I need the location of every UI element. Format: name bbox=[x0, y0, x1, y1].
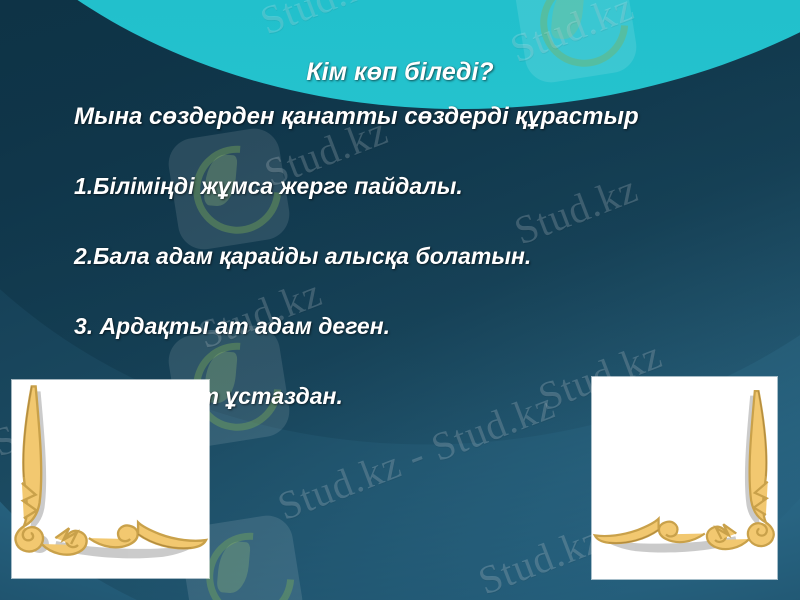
ornamental-image-frame-left[interactable] bbox=[12, 380, 209, 578]
kazakh-ornament-icon bbox=[12, 380, 209, 578]
ornamental-image-frame-right[interactable] bbox=[592, 377, 777, 579]
kazakh-ornament-icon bbox=[592, 377, 777, 579]
presentation-slide: Stud.kz Stud.kz Stud.kz Stud.kz Stud.kz … bbox=[0, 0, 800, 600]
